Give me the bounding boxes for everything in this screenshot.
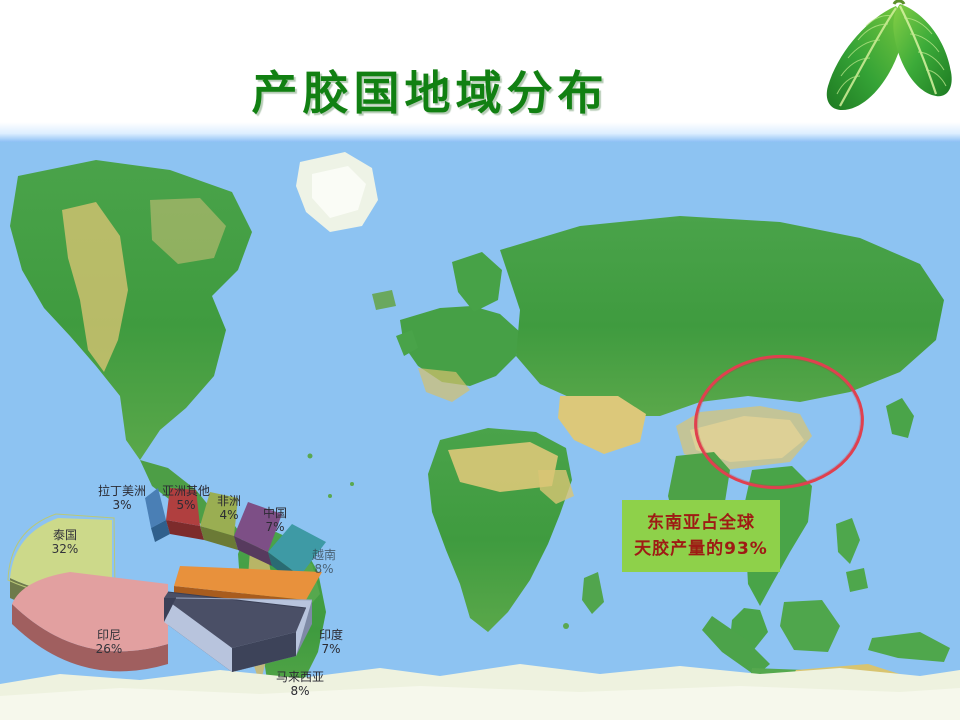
pie-label-malaysia: 马来西亚 8% [258, 670, 342, 698]
pie-label-vietnam: 越南 8% [296, 548, 352, 576]
pie-label-thailand: 泰国 32% [30, 528, 100, 556]
callout-box: 东南亚占全球 天胶产量的93% [622, 500, 780, 572]
callout-line-2: 天胶产量的93% [634, 536, 768, 562]
pie-label-indonesia: 印尼 26% [74, 628, 144, 656]
page-title: 产胶国地域分布 [0, 66, 860, 120]
pie-label-china: 中国 7% [250, 506, 300, 534]
pie-label-india: 印度 7% [300, 628, 362, 656]
two-green-leaves-icon [808, 0, 958, 125]
pie-chart: 泰国 32% 印尼 26% 马来西亚 8% 印度 7% 越南 8% 中国 7% … [0, 480, 400, 720]
callout-line-1: 东南亚占全球 [647, 510, 755, 536]
slide-canvas: 东南亚占全球 天胶产量的93% [0, 0, 960, 720]
pie-label-latin-america: 拉丁美洲 3% [84, 484, 160, 512]
